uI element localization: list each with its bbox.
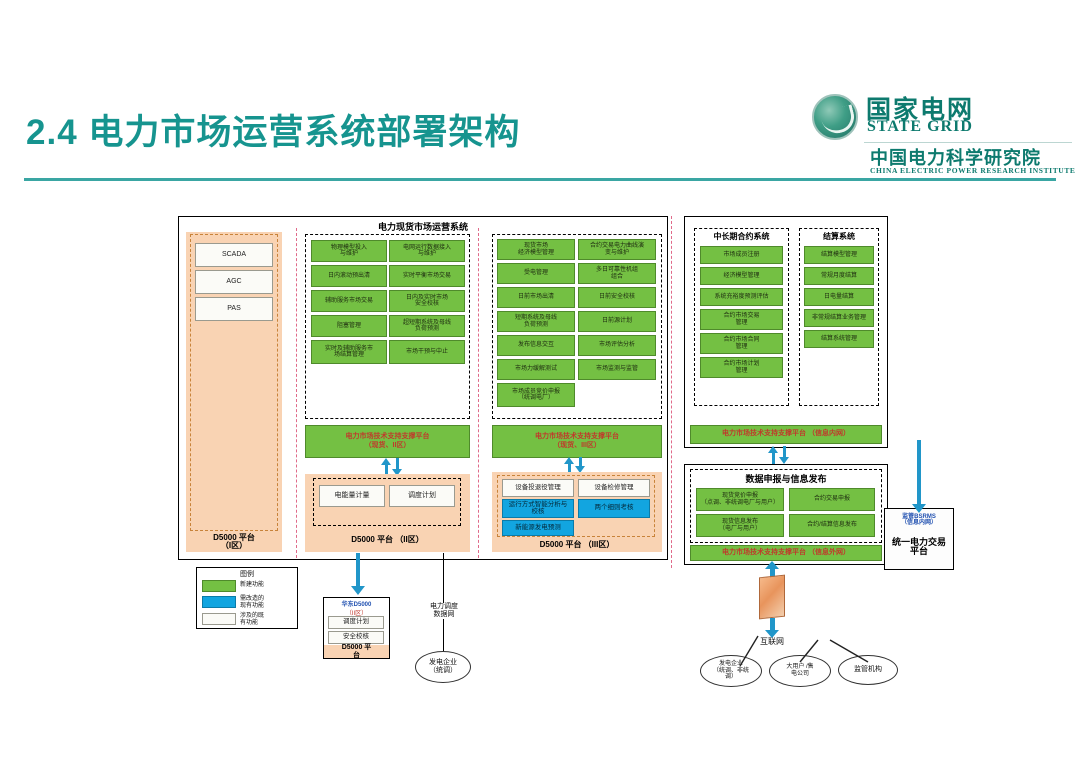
zone3-d5000-item-3[interactable]: 运行方式智能分析与 校核: [502, 499, 574, 518]
settlement-item-5[interactable]: 结算系统管理: [804, 330, 874, 348]
east-d5000-platform-label: D5000 平 台: [324, 645, 389, 658]
publish-item-4[interactable]: 合约/结算信息发布: [789, 514, 875, 537]
zone3-d5000-item-2[interactable]: 设备检修管理: [578, 479, 650, 497]
legend-swatch-existing: [202, 613, 236, 625]
contract-item-6[interactable]: 合约市场计划 管理: [700, 357, 783, 378]
zone3-item-1[interactable]: 现货市场 经济模型管理: [497, 239, 575, 260]
firewall-icon: [759, 575, 785, 620]
trade-platform-arrow-down-icon: [912, 504, 926, 513]
zone2-d5000-label: D5000 平台 （II区）: [305, 530, 470, 550]
contract-item-4[interactable]: 合约市场交易 管理: [700, 309, 783, 330]
zone3-item-12[interactable]: 市场评估分析: [578, 335, 656, 356]
trade-platform-title: 统一电力交易 平台: [884, 531, 954, 563]
zone1-platform-label: D5000 平台 （I区）: [186, 531, 282, 553]
brand-name-en: STATE GRID: [867, 118, 973, 136]
zone3-item-8[interactable]: 合约交易电力曲线演 变与维护: [578, 239, 656, 260]
zone3-item-11[interactable]: 日前源计划: [578, 311, 656, 332]
east-d5000-item-1[interactable]: 调度计划: [328, 616, 384, 629]
settlement-item-4[interactable]: 非常规结算业务管理: [804, 309, 874, 327]
zone3-d5000-item-1[interactable]: 设备投退役管理: [502, 479, 574, 497]
page-title: 2.4 电力市场运营系统部署架构: [26, 104, 520, 155]
publish-panel-title: 数据申报与信息发布: [690, 472, 882, 485]
zone3-item-13[interactable]: 市场监测与监管: [578, 359, 656, 380]
contract-item-2[interactable]: 经济模型管理: [700, 267, 783, 285]
zone3-platform-bar: 电力市场技术支持支撑平台 （现货、III区）: [492, 425, 662, 458]
dispatch-entity-ellipse: 发电企业 （统调）: [415, 651, 471, 683]
zone1-item-pas[interactable]: PAS: [195, 297, 273, 321]
zone2-item-8[interactable]: 日内及实时市场 安全校核: [389, 290, 465, 312]
zone-separator-2: [478, 228, 479, 558]
zone-separator-1: [296, 228, 297, 558]
zone2-arrow-up-icon: [381, 458, 391, 465]
legend-title: 图例: [196, 569, 298, 579]
trade-platform-arrow-line: [917, 440, 921, 506]
outer-network-platform-bar: 电力市场技术支持支撑平台 （信息外网）: [690, 545, 882, 561]
zone3-d5000-item-4[interactable]: 两个细则考核: [578, 499, 650, 518]
settlement-item-2[interactable]: 常规月度结算: [804, 267, 874, 285]
east-d5000-header: 华东D5000: [323, 599, 390, 608]
zone3-arrow-up-icon: [564, 457, 574, 464]
zone3-item-4[interactable]: 短期系统及母线 负荷预测: [497, 311, 575, 332]
dispatch-net-line: [443, 553, 444, 651]
publish-item-3[interactable]: 现货信息发布 （电厂与用户）: [696, 514, 784, 537]
contract-item-5[interactable]: 合约市场合同 管理: [700, 333, 783, 354]
zone3-item-7[interactable]: 市场成员竞价申报 （统调电厂）: [497, 383, 575, 407]
legend-swatch-modified: [202, 596, 236, 608]
east-d5000-arrow-down-icon: [351, 586, 365, 595]
zone1-item-scada[interactable]: SCADA: [195, 243, 273, 267]
settlement-system-title: 结算系统: [799, 231, 879, 242]
title-divider: [24, 178, 1056, 181]
zone2-item-3[interactable]: 辅助服务市场交易: [311, 290, 387, 312]
zone2-d5000-item-1[interactable]: 电能量计量: [319, 485, 385, 507]
zone2-item-10[interactable]: 市场干预与中止: [389, 340, 465, 364]
zone2-item-4[interactable]: 阻塞管理: [311, 315, 387, 337]
contract-item-3[interactable]: 系统充裕度预测评估: [700, 288, 783, 306]
trade-platform-header: 监管BSRMS （信息内网）: [884, 511, 954, 529]
east-d5000-item-2[interactable]: 安全校核: [328, 631, 384, 644]
zone2-item-7[interactable]: 实时平衡市场交易: [389, 265, 465, 287]
publish-item-1[interactable]: 现货竞价申报 （点调、非统调电厂与用户）: [696, 488, 784, 511]
zone2-item-1[interactable]: 物理模型投入 与维护: [311, 240, 387, 262]
entity-connector-lines: [690, 628, 910, 668]
legend-label-modified: 需改造的 现有功能: [240, 596, 294, 610]
zone3-item-6[interactable]: 市场力缓解测试: [497, 359, 575, 380]
contract-system-title: 中长期合约系统: [694, 231, 789, 242]
zone2-item-6[interactable]: 电网运行数据接入 与维护: [389, 240, 465, 262]
zone2-d5000-item-2[interactable]: 调度计划: [389, 485, 455, 507]
zone2-item-2[interactable]: 日内滚动预出清: [311, 265, 387, 287]
inner-outer-arrow-down-icon: [779, 457, 789, 464]
legend-label-existing: 涉及的既 有功能: [240, 613, 294, 627]
zone3-item-2[interactable]: 受电管理: [497, 263, 575, 284]
dispatch-net-label: 电力调度 数据网: [412, 603, 476, 619]
east-d5000-arrow-line: [356, 553, 360, 590]
legend-label-new: 新建功能: [240, 582, 294, 589]
settlement-item-1[interactable]: 结算模型管理: [804, 246, 874, 264]
firewall-arrow-up-icon: [765, 561, 779, 569]
institute-name-en: CHINA ELECTRIC POWER RESEARCH INSTITUTE: [870, 166, 1076, 175]
inner-network-platform-bar: 电力市场技术支持支撑平台 （信息内网）: [690, 425, 882, 444]
zone2-platform-bar: 电力市场技术支持支撑平台 （现货、II区）: [305, 425, 470, 458]
contract-item-1[interactable]: 市场成员注册: [700, 246, 783, 264]
zone1-item-agc[interactable]: AGC: [195, 270, 273, 294]
logo-divider: [864, 142, 1072, 143]
inner-outer-arrow-up-icon: [768, 446, 778, 453]
logo-block: 国家电网 STATE GRID 中国电力科学研究院 CHINA ELECTRIC…: [812, 90, 1062, 174]
zone2-item-9[interactable]: 超短期系统及母线 负荷预测: [389, 315, 465, 337]
zone3-item-5[interactable]: 发布信息交互: [497, 335, 575, 356]
legend-swatch-new: [202, 580, 236, 592]
zone3-item-10[interactable]: 日前安全校核: [578, 287, 656, 308]
zone3-item-3[interactable]: 日前市场出清: [497, 287, 575, 308]
zone3-d5000-item-5[interactable]: 新能源发电预测: [502, 520, 574, 536]
zone3-d5000-label: D5000 平台 （III区）: [492, 538, 662, 552]
zone3-item-9[interactable]: 多日可靠性机组 组合: [578, 263, 656, 284]
state-grid-globe-icon: [812, 94, 858, 140]
publish-item-2[interactable]: 合约交易申报: [789, 488, 875, 511]
zone-separator-3: [671, 216, 672, 568]
zone2-item-5[interactable]: 实时及辅助服务市 场结算管理: [311, 340, 387, 364]
settlement-item-3[interactable]: 日电量结算: [804, 288, 874, 306]
